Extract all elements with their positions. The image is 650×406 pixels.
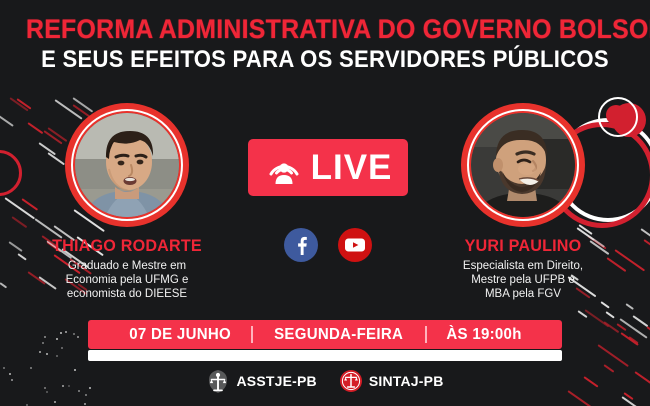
decorative-dash <box>622 396 647 406</box>
speaker-name-right: YURI PAULINO <box>423 236 623 256</box>
social-icons <box>248 228 408 262</box>
speaker-photo-right <box>461 103 585 227</box>
decorative-dash <box>640 228 650 249</box>
live-label: LIVE <box>311 150 393 185</box>
decorative-dash <box>604 321 620 333</box>
photo-image-left <box>75 113 179 217</box>
decorative-dash <box>0 282 7 288</box>
photo-image-right <box>471 113 575 217</box>
speaker-role-right: Especialista em Direito, Mestre pela UFP… <box>418 259 628 301</box>
decorative-arc-left <box>0 150 22 196</box>
schedule-weekday: SEGUNDA-FEIRA <box>275 326 404 344</box>
poster-title: REFORMA ADMINISTRATIVA DO GOVERNO BOLSON… <box>0 14 650 74</box>
decorative-dot <box>61 347 63 349</box>
decorative-dash <box>626 303 634 310</box>
decorative-dash <box>597 344 629 367</box>
decorative-dot <box>39 351 41 353</box>
decorative-dash <box>577 310 587 318</box>
decorative-dash <box>619 318 647 339</box>
decorative-dot <box>77 336 79 338</box>
decorative-dot <box>60 332 62 334</box>
decorative-dot <box>26 404 28 406</box>
thiago-rodarte-portrait <box>75 113 179 217</box>
youtube-glyph <box>344 237 366 253</box>
schedule-date: 07 DE JUNHO <box>129 326 231 344</box>
speaker-role-left-line2: Economia pela UFMG e <box>22 273 232 287</box>
speaker-role-right-line2: Mestre pela UFPB e <box>418 273 628 287</box>
facebook-icon[interactable] <box>284 228 318 262</box>
decorative-dot <box>56 338 58 340</box>
speaker-role-right-line1: Especialista em Direito, <box>418 259 628 273</box>
justice-figure-icon <box>206 368 230 394</box>
decorative-dash <box>605 311 614 318</box>
speaker-role-left: Graduado e Mestre em Economia pela UFMG … <box>22 259 232 301</box>
decorative-dash <box>0 113 13 127</box>
decorative-dash <box>644 239 650 255</box>
speaker-card-right: YURI PAULINO Especialista em Direito, Me… <box>418 103 628 301</box>
decorative-dash <box>8 241 22 252</box>
yuri-paulino-portrait <box>471 113 575 217</box>
live-event-poster: REFORMA ADMINISTRATIVA DO GOVERNO BOLSON… <box>0 0 650 406</box>
decorative-dash <box>628 336 639 344</box>
decorative-dot <box>65 331 67 333</box>
logo-sintaj-label: SINTAJ-PB <box>369 373 444 389</box>
speaker-role-right-line3: MBA pela FGV <box>418 287 628 301</box>
speaker-role-left-line3: economista do DIEESE <box>22 287 232 301</box>
youtube-icon[interactable] <box>338 228 372 262</box>
schedule-time: ÀS 19:00h <box>446 326 521 344</box>
decorative-dot <box>84 403 86 405</box>
broadcast-person-icon <box>264 148 304 188</box>
decorative-dash <box>647 327 650 347</box>
facebook-glyph <box>291 235 311 255</box>
decorative-dash <box>600 301 609 308</box>
logo-asstje-pb: ASSTJE-PB <box>206 368 316 394</box>
schedule-separator-1 <box>251 326 253 343</box>
decorative-dash <box>616 323 626 331</box>
decorative-dash <box>585 310 610 328</box>
decorative-dot <box>42 342 44 344</box>
logo-sintaj-pb: SINTAJ-PB <box>339 369 444 393</box>
decorative-dot <box>54 401 56 403</box>
live-badge: LIVE <box>248 139 408 196</box>
decorative-dash <box>620 332 639 346</box>
schedule-underbar <box>88 350 562 361</box>
speaker-photo-left <box>65 103 189 227</box>
speaker-card-left: THIAGO RODARTE Graduado e Mestre em Econ… <box>22 103 232 301</box>
speaker-name-left: THIAGO RODARTE <box>27 236 227 256</box>
footer-logos: ASSTJE-PB SINTAJ-PB <box>0 368 650 394</box>
speaker-role-left-line1: Graduado e Mestre em <box>22 259 232 273</box>
decorative-dot <box>56 355 58 357</box>
decorative-dot <box>44 336 46 338</box>
title-line-2: E SEUS EFEITOS PARA OS SERVIDORES PÚBLIC… <box>26 46 624 74</box>
schedule-bar: 07 DE JUNHO SEGUNDA-FEIRA ÀS 19:00h <box>88 320 562 349</box>
title-line-1: REFORMA ADMINISTRATIVA DO GOVERNO BOLSON… <box>26 14 624 44</box>
decorative-dot <box>46 353 48 355</box>
decorative-dash <box>633 315 649 327</box>
decorative-dot <box>73 333 75 335</box>
scales-badge-icon <box>339 369 363 393</box>
schedule-separator-2 <box>425 326 427 343</box>
logo-asstje-label: ASSTJE-PB <box>236 373 316 389</box>
decorative-dot <box>85 394 87 396</box>
